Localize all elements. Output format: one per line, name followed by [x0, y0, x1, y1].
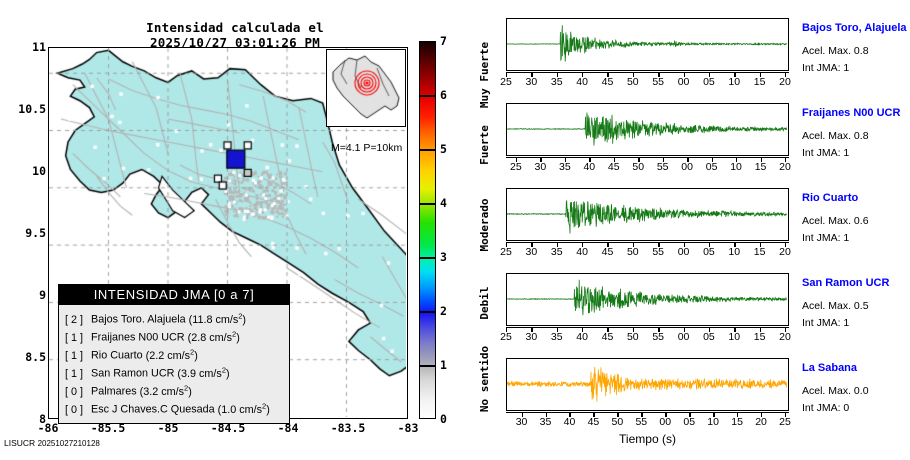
legend-acceleration: (3.2 cm/s2)	[137, 386, 192, 398]
intensity-legend: INTENSIDAD JMA [0 a 7] [ 2 ]Bajos Toro. …	[58, 284, 290, 424]
axis-line	[506, 242, 789, 243]
legend-station-name: Esc J Chaves.C Quesada	[91, 404, 215, 416]
seismogram-panel: 303540455055000510152025La SabanaAcel. M…	[495, 348, 910, 433]
colorbar-tick	[419, 311, 436, 313]
legend-row: [ 0 ]Esc J Chaves.C Quesada (1.0 cm/s2)	[65, 399, 283, 417]
page-title: Intensidad calculada el 2025/10/27_03:01…	[60, 20, 410, 50]
legend-intensity-bracket: [ 1 ]	[65, 331, 91, 346]
colorbar-category-label: Fuerte	[478, 125, 491, 165]
colorbar-number: 7	[440, 34, 460, 48]
seismogram-panels: 253035404550550005101520Bajos Toro, Alaj…	[495, 8, 910, 448]
legend-station-name: Fraijanes N00 UCR	[91, 332, 185, 344]
legend-intensity-bracket: [ 1 ]	[65, 367, 91, 382]
footer-agency: LISUCR	[4, 438, 35, 448]
axis-tick-label: 20	[770, 331, 800, 343]
colorbar-number: 6	[440, 88, 460, 102]
legend-title: INTENSIDAD JMA [0 a 7]	[59, 285, 289, 305]
colorbar-tick	[419, 365, 436, 367]
axis-line	[506, 72, 789, 73]
seismogram-panel: 253035404550550005101520Fraijanes N00 UC…	[495, 93, 910, 178]
legend-acceleration: (3.9 cm/s2)	[174, 368, 229, 380]
colorbar-tick	[419, 149, 436, 151]
colorbar-number: 3	[440, 250, 460, 264]
waveform-plot[interactable]	[506, 18, 789, 71]
legend-intensity-bracket: [ 0 ]	[65, 403, 91, 418]
colorbar-tick	[419, 203, 436, 205]
legend-intensity-bracket: [ 2 ]	[65, 313, 91, 328]
map-x-tick: -83.5	[318, 421, 378, 435]
jma-intensity-label: Int JMA: 1	[802, 147, 849, 159]
colorbar-number: 5	[440, 142, 460, 156]
seismogram-panel: 253035404550550005101520Rio CuartoAcel. …	[495, 178, 910, 263]
legend-row: [ 0 ]Palmares (3.2 cm/s2)	[65, 381, 283, 399]
time-axis-title: Tiempo (s)	[506, 432, 789, 446]
colorbar-categories: Muy FuerteFuerteModeradoDebilNo sentido	[466, 0, 496, 460]
time-axis: 253035404550550005101520	[506, 242, 789, 256]
legend-row: [ 1 ]San Ramon UCR (3.9 cm/s2)	[65, 363, 283, 381]
max-acceleration-label: Acel. Max. 0.5	[802, 300, 869, 312]
station-name: San Ramon UCR	[802, 277, 889, 289]
colorbar-number: 1	[440, 358, 460, 372]
legend-acceleration: (2.8 cm/s2)	[185, 332, 240, 344]
map-y-tick: 9.5	[2, 226, 46, 240]
legend-station-name: Bajos Toro. Alajuela	[91, 314, 186, 326]
time-axis: 253035404550550005101520	[506, 72, 789, 86]
station-name: Bajos Toro, Alajuela	[802, 22, 907, 34]
waveform-plot[interactable]	[506, 358, 789, 411]
colorbar-numbers: 76543210	[440, 0, 462, 460]
time-axis: 303540455055000510152025	[506, 412, 789, 426]
legend-row: [ 2 ]Bajos Toro. Alajuela (11.8 cm/s2)	[65, 309, 283, 327]
colorbar-tick	[419, 95, 436, 97]
colorbar-category-label: No sentido	[478, 345, 491, 411]
axis-tick-label: 20	[770, 246, 800, 258]
axis-tick-label: 20	[770, 161, 800, 173]
magnitude-depth-note: M=4.1 P=10km	[331, 142, 402, 154]
map-y-tick: 10.5	[2, 102, 46, 116]
jma-intensity-label: Int JMA: 1	[802, 232, 849, 244]
seismogram-panel: 253035404550550005101520Bajos Toro, Alaj…	[495, 8, 910, 93]
colorbar-tick	[419, 257, 436, 259]
axis-line	[506, 327, 789, 328]
axis-line	[506, 412, 789, 413]
colorbar-ticks	[419, 41, 436, 419]
waveform-plot[interactable]	[506, 188, 789, 241]
map-y-tick: 8.5	[2, 350, 46, 364]
waveform-plot[interactable]	[506, 103, 789, 156]
axis-line	[506, 157, 789, 158]
time-axis: 253035404550550005101520	[506, 157, 789, 171]
jma-intensity-label: Int JMA: 1	[802, 317, 849, 329]
legend-station-name: Palmares	[91, 386, 137, 398]
waveform-plot[interactable]	[506, 273, 789, 326]
legend-acceleration: (1.0 cm/s2)	[215, 404, 270, 416]
colorbar-number: 2	[440, 304, 460, 318]
map-y-tick: 10	[2, 164, 46, 178]
legend-row: [ 1 ]Fraijanes N00 UCR (2.8 cm/s2)	[65, 327, 283, 345]
max-acceleration-label: Acel. Max. 0.6	[802, 215, 869, 227]
time-axis: 253035404550550005101520	[506, 327, 789, 341]
station-name: Fraijanes N00 UCR	[802, 107, 900, 119]
station-name: La Sabana	[802, 362, 857, 374]
colorbar-category-label: Muy Fuerte	[478, 42, 491, 108]
max-acceleration-label: Acel. Max. 0.8	[802, 130, 869, 142]
inset-canvas	[327, 50, 404, 125]
map-y-axis: 1110.5109.598.58	[0, 0, 46, 460]
seismogram-panel: 253035404550550005101520San Ramon UCRAce…	[495, 263, 910, 348]
colorbar-category-label: Moderado	[478, 198, 491, 251]
legend-row: [ 1 ]Rio Cuarto (2.2 cm/s2)	[65, 345, 283, 363]
max-acceleration-label: Acel. Max. 0.0	[802, 385, 869, 397]
inset-locator-map[interactable]	[326, 49, 406, 127]
station-name: Rio Cuarto	[802, 192, 858, 204]
colorbar-number: 0	[440, 412, 460, 426]
colorbar-number: 4	[440, 196, 460, 210]
axis-tick-label: 25	[770, 416, 800, 428]
jma-intensity-label: Int JMA: 0	[802, 402, 849, 414]
colorbar-category-label: Debil	[478, 286, 491, 319]
map-x-tick: -83	[378, 421, 438, 435]
map-y-tick: 9	[2, 288, 46, 302]
legend-station-name: Rio Cuarto	[91, 350, 143, 362]
legend-acceleration: (2.2 cm/s2)	[143, 350, 198, 362]
footer-id: 20251027210128	[38, 439, 100, 448]
legend-station-name: San Ramon UCR	[91, 368, 174, 380]
legend-intensity-bracket: [ 1 ]	[65, 349, 91, 364]
map-y-tick: 11	[2, 40, 46, 54]
legend-intensity-bracket: [ 0 ]	[65, 385, 91, 400]
legend-acceleration: (11.8 cm/s2)	[186, 314, 246, 326]
max-acceleration-label: Acel. Max. 0.8	[802, 45, 869, 57]
jma-intensity-label: Int JMA: 1	[802, 62, 849, 74]
legend-list: [ 2 ]Bajos Toro. Alajuela (11.8 cm/s2)[ …	[59, 305, 289, 423]
axis-tick-label: 20	[770, 76, 800, 88]
footer: LISUCR 20251027210128	[4, 438, 100, 448]
